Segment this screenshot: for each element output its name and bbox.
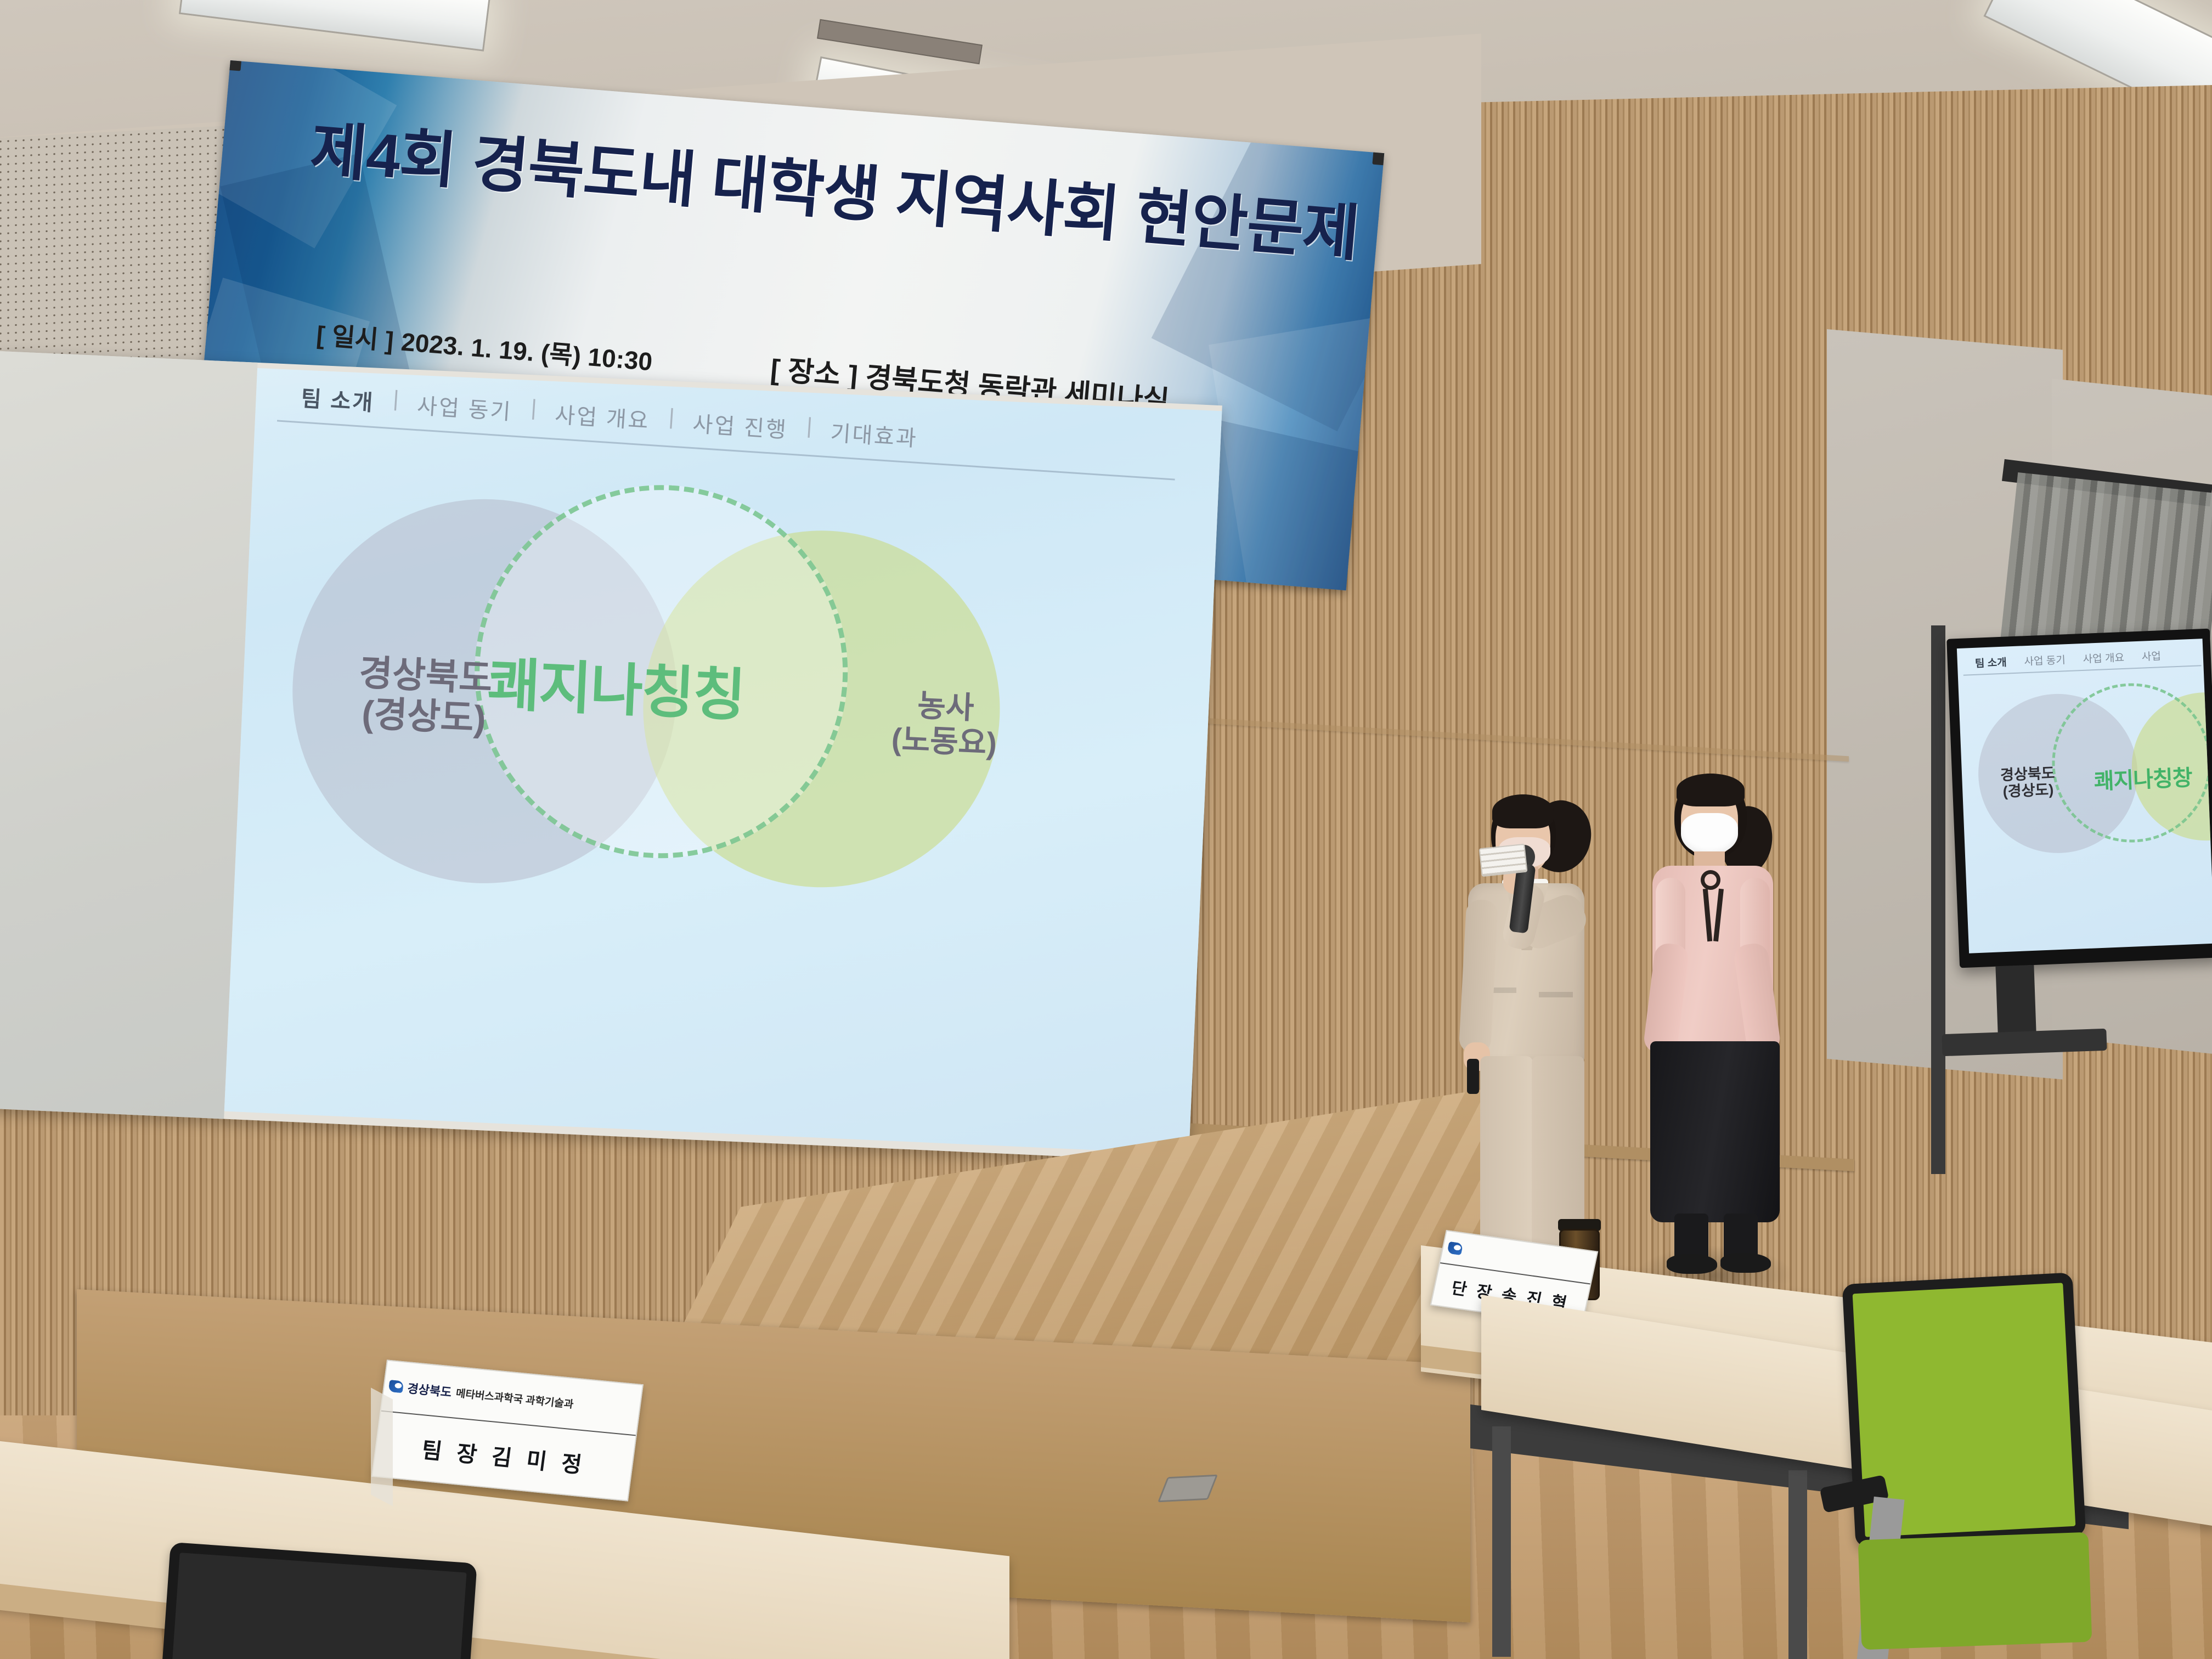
venn-diagram: 경상북도 (경상도) 쾌지나칭칭 농사 (노동요) <box>276 469 1206 1101</box>
nameplate-dept: 메타버스과학국 과학기술과 <box>455 1385 575 1411</box>
shoe <box>1667 1254 1717 1274</box>
slide-nav-item-motivation[interactable]: 사업 동기 <box>398 387 532 427</box>
screen-blank-margin <box>0 351 258 1119</box>
venn-label-right: 농사 (노동요) <box>891 687 999 761</box>
tv-monitor: 팀 소개 사업 동기 사업 개요 사업 경상북도 (경상도) 쾌지나칭창 <box>1946 629 2212 968</box>
hair-fringe <box>1677 774 1745 806</box>
tv-venn-label-left: 경상북도 (경상도) <box>2000 765 2056 800</box>
venn-label-right-line2: (노동요) <box>891 722 997 761</box>
date-label: [ 일시 ] <box>315 315 395 357</box>
venn-label-left-line2: (경상도) <box>357 693 492 740</box>
tv-nav-item-overview: 사업 개요 <box>2074 649 2133 666</box>
shoe <box>1720 1253 1771 1273</box>
nameplate-front-left: 경상북도 메타버스과학국 과학기술과 팀 장 김 미 정 <box>371 1359 644 1501</box>
projection-screen: 팀 소개 | 사업 동기 | 사업 개요 | 사업 진행 | 기대효과 경상북도… <box>0 351 1222 1162</box>
black-skirt <box>1650 1041 1780 1222</box>
jacket-pocket <box>1539 992 1573 997</box>
cue-card <box>1479 844 1528 877</box>
presenter-standing <box>1624 768 1843 1317</box>
chair-seat <box>1858 1532 2092 1650</box>
tv-venn-label-left-line2: (경상도) <box>2001 782 2056 800</box>
tv-nav-item-progress: 사업 <box>2132 648 2170 664</box>
slide-nav-item-team-intro[interactable]: 팀 소개 <box>281 379 394 418</box>
hair-fringe <box>1492 794 1554 828</box>
tv-nav-item-motivation: 사업 동기 <box>2015 652 2074 669</box>
nameplate-org: 경상북도 <box>407 1379 453 1401</box>
slide-nav-item-progress[interactable]: 사업 진행 <box>673 405 808 445</box>
nameplate-stand-leg <box>371 1387 393 1506</box>
slide-nav-item-expected-effect[interactable]: 기대효과 <box>811 414 938 454</box>
gyeongsangbukdo-logo-icon <box>388 1380 404 1393</box>
chair-backrest <box>159 1542 477 1659</box>
seminar-room-scene: 제4회 경북도내 대학생 지역사회 현안문제 해결방안 경진대회 [ 일시 ] … <box>0 0 2212 1659</box>
venn-label-left: 경상북도 (경상도) <box>357 653 493 740</box>
venn-label-left-line1: 경상북도 <box>358 653 493 699</box>
venn-label-right-line1: 농사 <box>893 687 999 726</box>
slide-nav-item-overview[interactable]: 사업 개요 <box>535 396 670 437</box>
tv-mount-pole <box>1931 625 1945 1174</box>
neck-ribbon <box>1701 870 1720 890</box>
date-value: 2023. 1. 19. (목) 10:30 <box>400 322 654 379</box>
tv-venn-label-center: 쾌지나칭창 <box>2093 760 2192 795</box>
gyeongsangbukdo-logo-icon <box>1447 1242 1463 1255</box>
face-mask-kf94 <box>1681 813 1738 855</box>
tv-screen: 팀 소개 사업 동기 사업 개요 사업 경상북도 (경상도) 쾌지나칭창 <box>1957 639 2212 953</box>
right-table-leg <box>1788 1470 1807 1659</box>
tv-nav-item-team-intro: 팀 소개 <box>1966 654 2016 671</box>
right-table-leg <box>1492 1426 1511 1657</box>
presentation-clicker[interactable] <box>1467 1059 1479 1094</box>
venn-label-center: 쾌지나칭칭 <box>486 653 746 728</box>
tv-venn-diagram: 경상북도 (경상도) 쾌지나칭창 <box>1964 676 2212 944</box>
chair-foreground-right <box>1827 1278 2178 1659</box>
chair-foreground-left <box>165 1553 516 1659</box>
presentation-slide: 팀 소개 | 사업 동기 | 사업 개요 | 사업 진행 | 기대효과 경상북도… <box>224 368 1222 1154</box>
